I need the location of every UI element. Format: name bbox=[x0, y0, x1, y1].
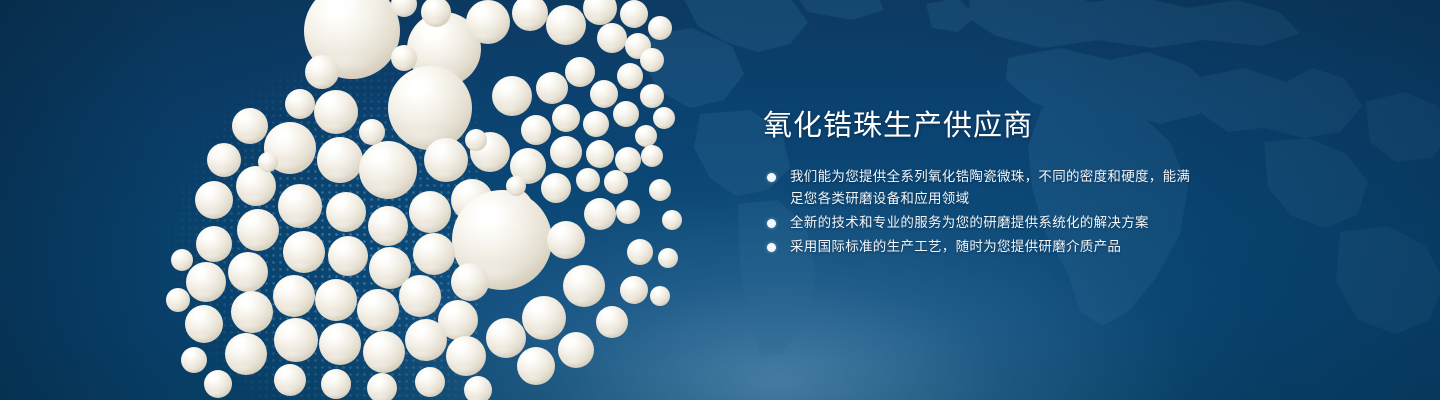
bullet-dot-icon bbox=[767, 173, 776, 182]
feature-list-item-label: 采用国际标准的生产工艺，随时为您提供研磨介质产品 bbox=[790, 239, 1121, 254]
background-vignette bbox=[0, 0, 1440, 400]
banner-feature-list: 我们能为您提供全系列氧化锆陶瓷微珠，不同的密度和硬度，能满足您各类研磨设备和应用… bbox=[763, 166, 1203, 258]
bullet-dot-icon bbox=[767, 243, 776, 252]
bullet-dot-icon bbox=[767, 219, 776, 228]
banner-text-column: 氧化锆珠生产供应商 我们能为您提供全系列氧化锆陶瓷微珠，不同的密度和硬度，能满足… bbox=[763, 108, 1203, 260]
hero-banner: 氧化锆珠生产供应商 我们能为您提供全系列氧化锆陶瓷微珠，不同的密度和硬度，能满足… bbox=[0, 0, 1440, 400]
feature-list-item-label: 我们能为您提供全系列氧化锆陶瓷微珠，不同的密度和硬度，能满足您各类研磨设备和应用… bbox=[790, 169, 1190, 206]
feature-list-item: 采用国际标准的生产工艺，随时为您提供研磨介质产品 bbox=[763, 236, 1203, 258]
banner-headline: 氧化锆珠生产供应商 bbox=[763, 108, 1203, 144]
feature-list-item: 我们能为您提供全系列氧化锆陶瓷微珠，不同的密度和硬度，能满足您各类研磨设备和应用… bbox=[763, 166, 1203, 210]
feature-list-item-label: 全新的技术和专业的服务为您的研磨提供系统化的解决方案 bbox=[790, 215, 1149, 230]
feature-list-item: 全新的技术和专业的服务为您的研磨提供系统化的解决方案 bbox=[763, 212, 1203, 234]
